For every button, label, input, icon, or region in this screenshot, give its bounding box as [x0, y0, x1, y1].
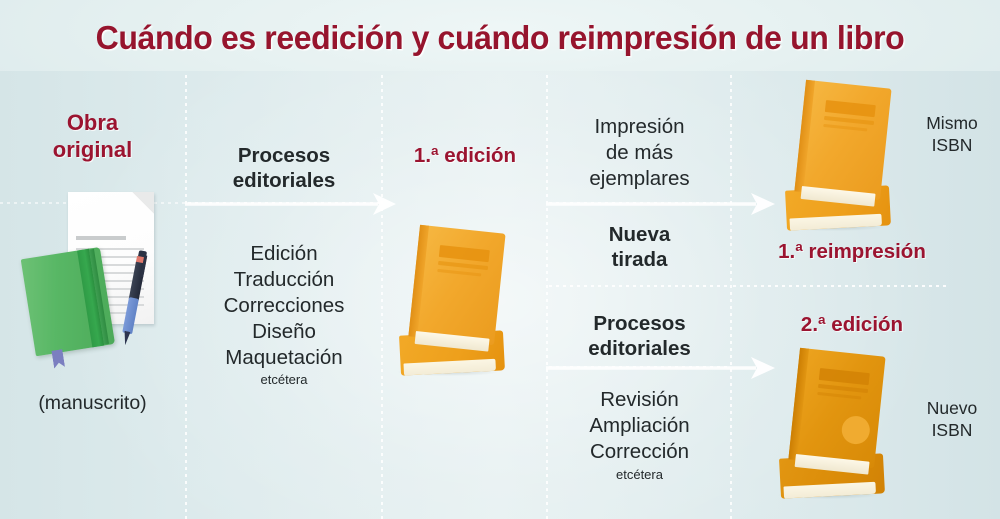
reprint-description-line1: Impresión [549, 114, 730, 139]
side-note-mismo-isbn-line2: ISBN [906, 135, 998, 156]
process-item-correcciones: Correcciones [188, 293, 380, 318]
column-heading-editorial-processes-line1: Procesos [188, 143, 380, 168]
infographic-canvas: Cuándo es reedición y cuándo reimpresión… [0, 0, 1000, 519]
reprint-label-line1: Nueva [549, 222, 730, 247]
manuscript-illustration [28, 192, 168, 367]
process-item-edicion: Edición [188, 241, 380, 266]
column-divider-4 [730, 75, 732, 519]
column-heading-editorial-processes-line2: editoriales [188, 168, 380, 193]
process-item-maquetacion: Maquetación [188, 345, 380, 370]
green-notebook [21, 246, 124, 359]
page-title: Cuándo es reedición y cuándo reimpresión… [15, 19, 985, 57]
outcome-label-second-edition: 2.ª edición [733, 312, 971, 337]
arrow-reprint-to-outcome [546, 192, 776, 221]
new-edition-label-line2: editoriales [549, 336, 730, 361]
column-heading-original-work-line1: Obra [0, 110, 185, 137]
column-heading-first-edition: 1.ª edición [384, 143, 546, 168]
new-edition-label-line1: Procesos [549, 311, 730, 336]
new-edition-item-ampliacion: Ampliación [549, 413, 730, 438]
new-edition-item-correccion: Corrección [549, 439, 730, 464]
process-footnote-etcetera: etcétera [188, 372, 380, 388]
edition-seal-icon [840, 415, 871, 446]
side-note-mismo-isbn-line1: Mismo [906, 113, 998, 134]
row-divider-col5-mid [733, 285, 948, 287]
caption-manuscript: (manuscrito) [0, 392, 185, 416]
column-divider-3 [546, 75, 548, 519]
new-edition-item-revision: Revisión [549, 387, 730, 412]
column-divider-2 [381, 75, 383, 519]
reprint-description-line2: de más [549, 140, 730, 165]
column-divider-1 [185, 75, 187, 519]
new-edition-footnote-etcetera: etcétera [549, 467, 730, 483]
arrow-processes-to-first-edition [185, 192, 397, 221]
row-divider-col4-mid [549, 285, 730, 287]
outcome-label-first-reprint: 1.ª reimpresión [733, 239, 971, 264]
process-item-diseno: Diseño [188, 319, 380, 344]
side-note-nuevo-isbn-line2: ISBN [906, 420, 998, 441]
reprint-description-line3: ejemplares [549, 166, 730, 191]
side-note-nuevo-isbn-line1: Nuevo [906, 398, 998, 419]
process-item-traduccion: Traducción [188, 267, 380, 292]
orange-books-stack-first-reprint [782, 80, 910, 228]
orange-books-stack-second-edition [776, 348, 904, 496]
column-heading-original-work-line2: original [0, 137, 185, 164]
paper-folded-corner [132, 192, 154, 214]
reprint-label-line2: tirada [549, 247, 730, 272]
orange-books-stack-first-edition [396, 225, 524, 373]
